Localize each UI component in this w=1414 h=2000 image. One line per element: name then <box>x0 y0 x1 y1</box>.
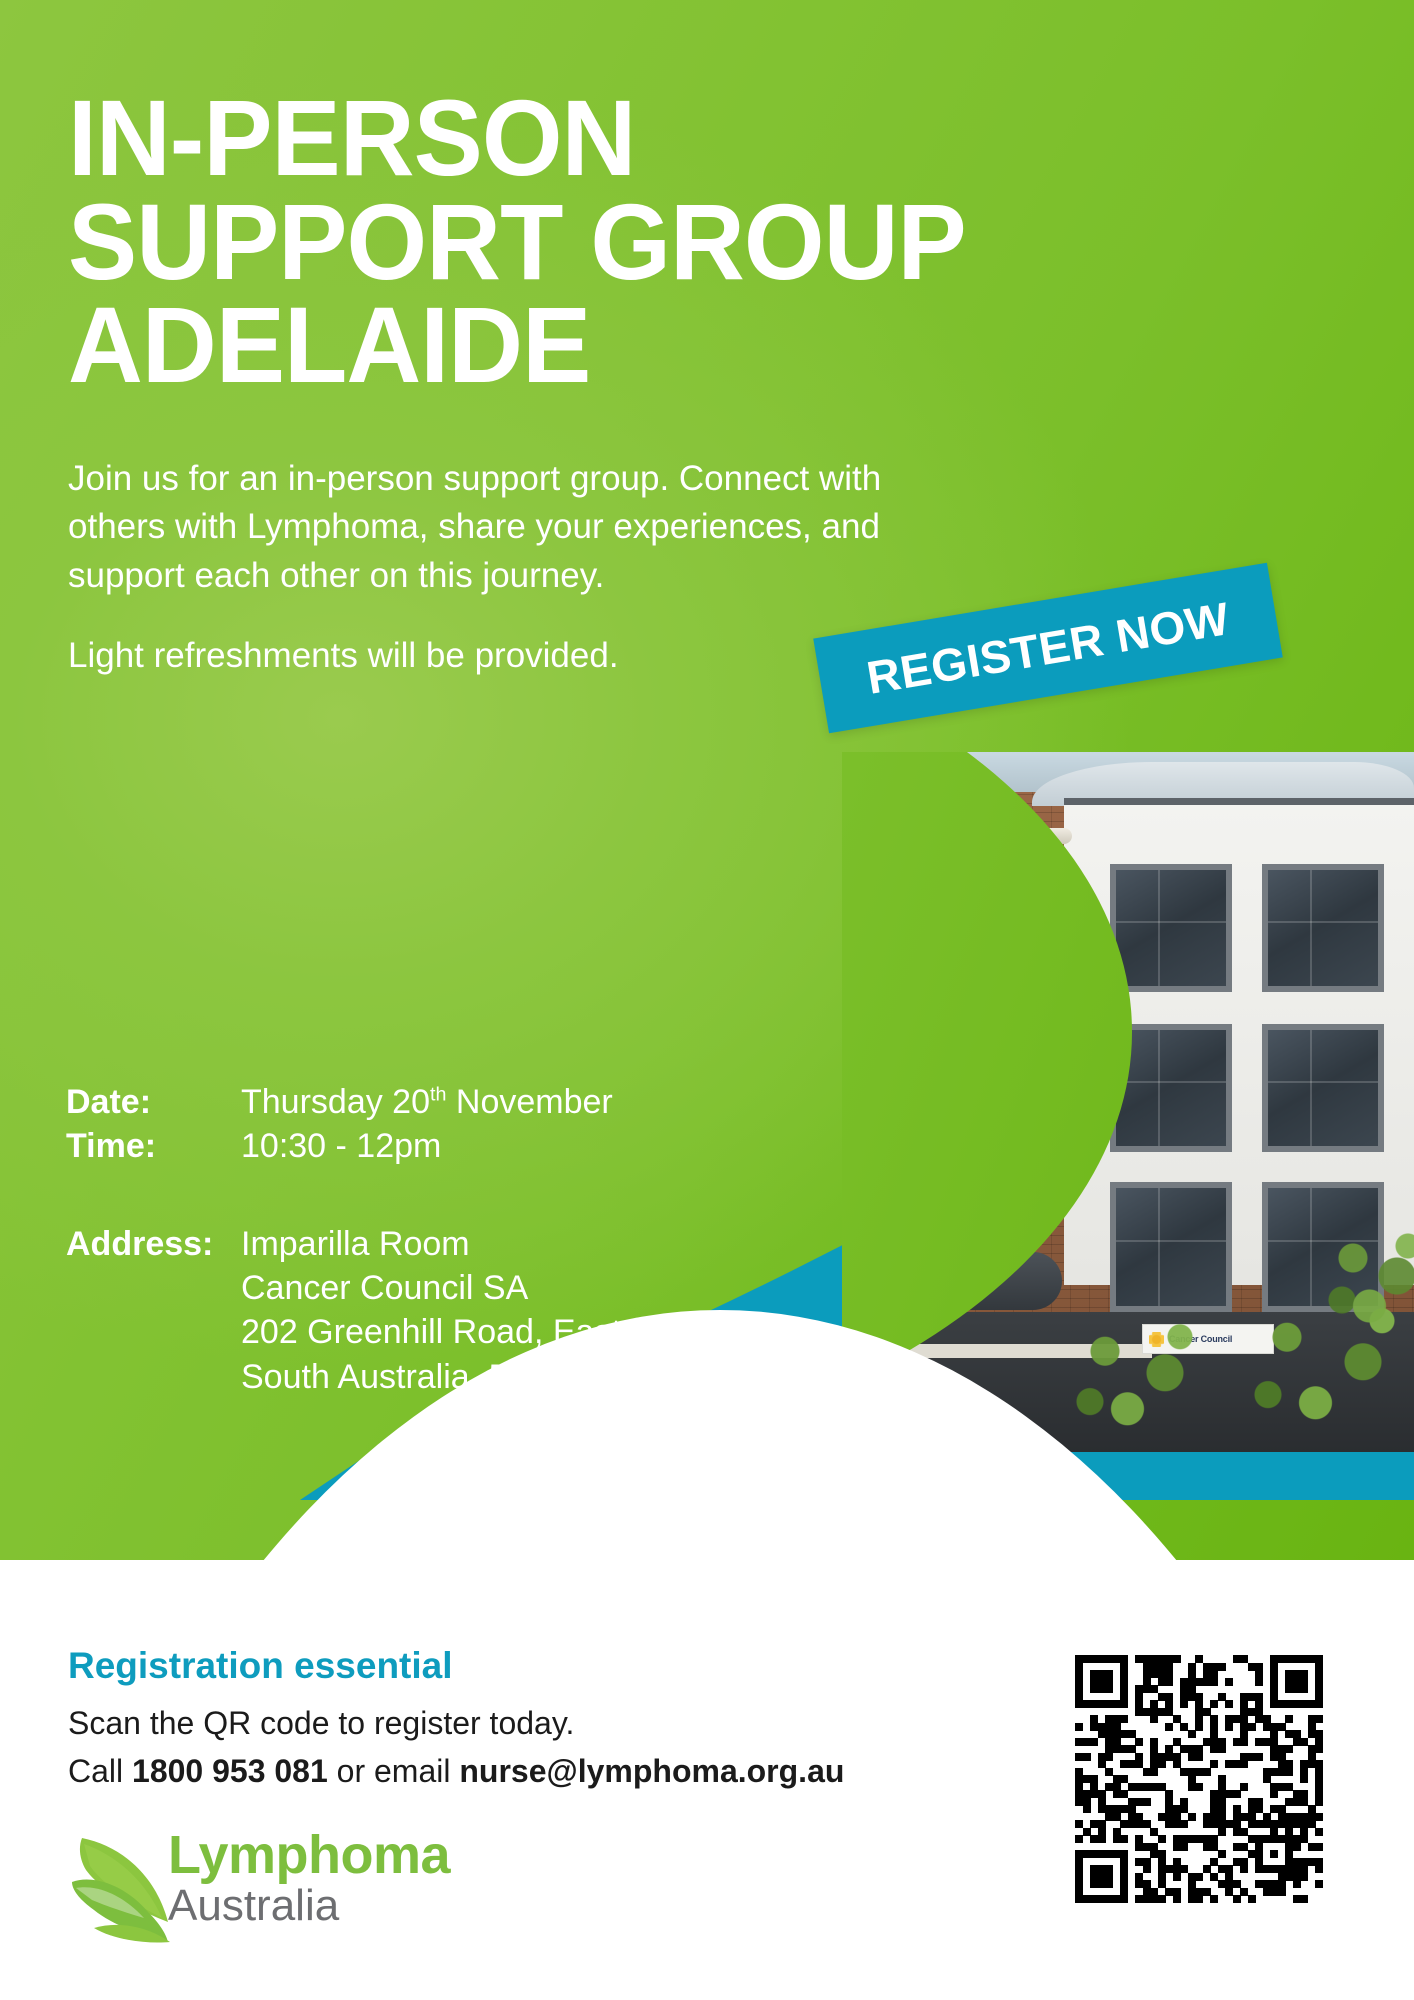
email-address[interactable]: nurse@lymphoma.org.au <box>459 1753 844 1789</box>
qr-canvas <box>1075 1655 1323 1903</box>
address-line: South Australia, 5063 <box>241 1355 702 1399</box>
detail-label-address: Address: <box>66 1222 241 1266</box>
date-ordinal-suffix: th <box>430 1084 446 1106</box>
lymphoma-australia-logo: Lymphoma Australia <box>64 1826 394 1946</box>
title-line-1: IN-PERSON <box>68 86 1306 190</box>
title-line-2: SUPPORT GROUP <box>68 190 1306 294</box>
logo-wordmark: Lymphoma Australia <box>168 1828 450 1929</box>
poster-root: Cancer Council IN-PERSON SUPPORT GROUP A… <box>0 0 1414 2000</box>
venue-photo-container: Cancer Council <box>842 752 1414 1452</box>
address-lines: Imparilla Room Cancer Council SA 202 Gre… <box>241 1222 702 1399</box>
venue-photo: Cancer Council <box>842 752 1414 1452</box>
address-line: 202 Greenhill Road, Eastwood <box>241 1310 702 1354</box>
detail-label-time: Time: <box>66 1124 241 1168</box>
logo-name-lymphoma: Lymphoma <box>168 1828 450 1882</box>
event-details: Date: Thursday 20th November Time: 10:30… <box>66 1080 613 1168</box>
detail-value-date: Thursday 20th November <box>241 1080 613 1124</box>
detail-label-date: Date: <box>66 1080 241 1124</box>
leaf-icon <box>64 1830 184 1946</box>
call-prefix: Call <box>68 1753 132 1789</box>
date-month: November <box>446 1083 612 1121</box>
date-prefix: Thursday 20 <box>241 1083 430 1121</box>
photo-window <box>1110 864 1232 992</box>
address-line: Cancer Council SA <box>241 1266 702 1310</box>
logo-name-australia: Australia <box>168 1883 450 1929</box>
title-line-3: ADELAIDE <box>68 293 1306 397</box>
venue-photo-clip: Cancer Council <box>842 752 1414 1452</box>
photo-tree <box>1320 1222 1414 1342</box>
address-line: Imparilla Room <box>241 1222 702 1266</box>
refreshments-note: Light refreshments will be provided. <box>68 632 888 680</box>
detail-row-time: Time: 10:30 - 12pm <box>66 1124 613 1168</box>
photo-window <box>1262 864 1384 992</box>
photo-window <box>1262 1024 1384 1152</box>
photo-window <box>1110 1182 1232 1312</box>
phone-number[interactable]: 1800 953 081 <box>132 1753 328 1789</box>
green-hero-panel: Cancer Council IN-PERSON SUPPORT GROUP A… <box>0 0 1414 1560</box>
call-middle: or email <box>328 1753 460 1789</box>
detail-row-date: Date: Thursday 20th November <box>66 1080 613 1124</box>
contact-line: Call 1800 953 081 or email nurse@lymphom… <box>68 1753 844 1790</box>
photo-tree <box>1060 1308 1210 1452</box>
page-title: IN-PERSON SUPPORT GROUP ADELAIDE <box>68 86 1358 397</box>
detail-value-time: 10:30 - 12pm <box>241 1124 441 1168</box>
intro-paragraph: Join us for an in-person support group. … <box>68 455 888 600</box>
event-address: Address: Imparilla Room Cancer Council S… <box>66 1222 702 1399</box>
registration-essential-heading: Registration essential <box>68 1645 453 1687</box>
scan-qr-instruction: Scan the QR code to register today. <box>68 1705 574 1742</box>
registration-qr-code[interactable] <box>1075 1655 1323 1903</box>
